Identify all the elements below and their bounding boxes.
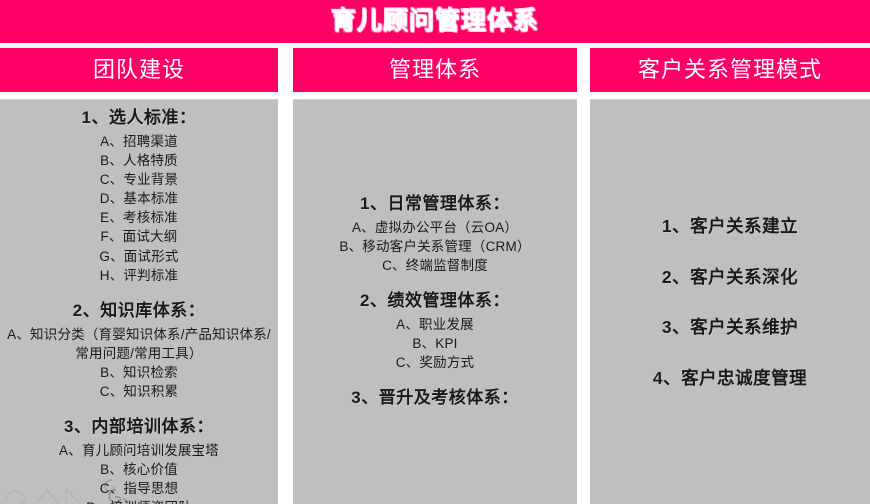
column-header-team-building[interactable]: 团队建设 <box>0 48 278 92</box>
column-header-customer-relationship[interactable]: 客户关系管理模式 <box>590 48 870 92</box>
group-title: 3、晋升及考核体系： <box>293 386 577 411</box>
group-item: B、核心价值 <box>0 460 278 479</box>
group-item: A、虚拟办公平台（云OA） <box>293 218 577 237</box>
column-content: 1、日常管理体系： A、虚拟办公平台（云OA） B、移动客户关系管理（CRM） … <box>293 100 577 504</box>
group-item: D、基本标准 <box>0 189 278 208</box>
column-body-customer-relationship: 1、客户关系建立 2、客户关系深化 3、客户关系维护 4、客户忠诚度管理 <box>590 99 870 504</box>
content-group: 1、日常管理体系： A、虚拟办公平台（云OA） B、移动客户关系管理（CRM） … <box>293 192 577 275</box>
content-group: 3、晋升及考核体系： <box>293 386 577 412</box>
group-item: C、终端监督制度 <box>293 256 577 275</box>
group-item: F、面试大纲 <box>0 227 278 246</box>
column-header-management-system[interactable]: 管理体系 <box>293 48 577 92</box>
group-item: G、面试形式 <box>0 247 278 266</box>
group-title: 3、内部培训体系： <box>0 415 278 440</box>
group-item: A、招聘渠道 <box>0 132 278 151</box>
column-body-team-building: 1、选人标准： A、招聘渠道 B、人格特质 C、专业背景 D、基本标准 E、考核… <box>0 99 278 504</box>
big-list-item: 1、客户关系建立 <box>590 214 870 239</box>
group-item: A、职业发展 <box>293 315 577 334</box>
group-item: A、知识分类（育婴知识体系/产品知识体系/常用问题/常用工具） <box>0 325 278 363</box>
group-item: E、考核标准 <box>0 208 278 227</box>
column-header-label: 团队建设 <box>93 59 185 81</box>
group-item: B、知识检索 <box>0 363 278 382</box>
slide-root: 育儿顾问管理体系 团队建设 管理体系 客户关系管理模式 1、选人标准： A、招聘… <box>0 0 870 504</box>
group-item: C、指导思想 <box>0 479 278 498</box>
group-item: C、知识积累 <box>0 382 278 401</box>
content-group: 2、知识库体系： A、知识分类（育婴知识体系/产品知识体系/常用问题/常用工具）… <box>0 299 278 401</box>
group-item: B、KPI <box>293 334 577 353</box>
slide-title-band: 育儿顾问管理体系 <box>0 0 870 43</box>
group-item: C、奖励方式 <box>293 353 577 372</box>
content-group: 3、内部培训体系： A、育儿顾问培训发展宝塔 B、核心价值 C、指导思想 D、培… <box>0 415 278 504</box>
content-group: 1、选人标准： A、招聘渠道 B、人格特质 C、专业背景 D、基本标准 E、考核… <box>0 106 278 285</box>
group-title: 1、日常管理体系： <box>293 192 577 217</box>
group-item: H、评判标准 <box>0 266 278 285</box>
group-title: 1、选人标准： <box>0 106 278 131</box>
column-content: 1、客户关系建立 2、客户关系深化 3、客户关系维护 4、客户忠诚度管理 <box>590 100 870 504</box>
big-list-item: 3、客户关系维护 <box>590 315 870 340</box>
column-header-label: 管理体系 <box>389 59 481 81</box>
column-header-label: 客户关系管理模式 <box>638 59 822 81</box>
group-title: 2、知识库体系： <box>0 299 278 324</box>
group-item: C、专业背景 <box>0 170 278 189</box>
column-content: 1、选人标准： A、招聘渠道 B、人格特质 C、专业背景 D、基本标准 E、考核… <box>0 100 278 504</box>
content-group: 2、绩效管理体系： A、职业发展 B、KPI C、奖励方式 <box>293 289 577 372</box>
column-bodies-row: 1、选人标准： A、招聘渠道 B、人格特质 C、专业背景 D、基本标准 E、考核… <box>0 99 870 504</box>
big-list-item: 4、客户忠诚度管理 <box>590 366 870 391</box>
column-headers-row: 团队建设 管理体系 客户关系管理模式 <box>0 48 870 92</box>
big-list-item: 2、客户关系深化 <box>590 265 870 290</box>
group-item: B、人格特质 <box>0 151 278 170</box>
group-title: 2、绩效管理体系： <box>293 289 577 314</box>
column-body-management-system: 1、日常管理体系： A、虚拟办公平台（云OA） B、移动客户关系管理（CRM） … <box>293 99 577 504</box>
group-item: A、育儿顾问培训发展宝塔 <box>0 441 278 460</box>
page-title: 育儿顾问管理体系 <box>331 9 539 34</box>
group-item: B、移动客户关系管理（CRM） <box>293 237 577 256</box>
group-item: D、培训师资团队 <box>0 498 278 504</box>
